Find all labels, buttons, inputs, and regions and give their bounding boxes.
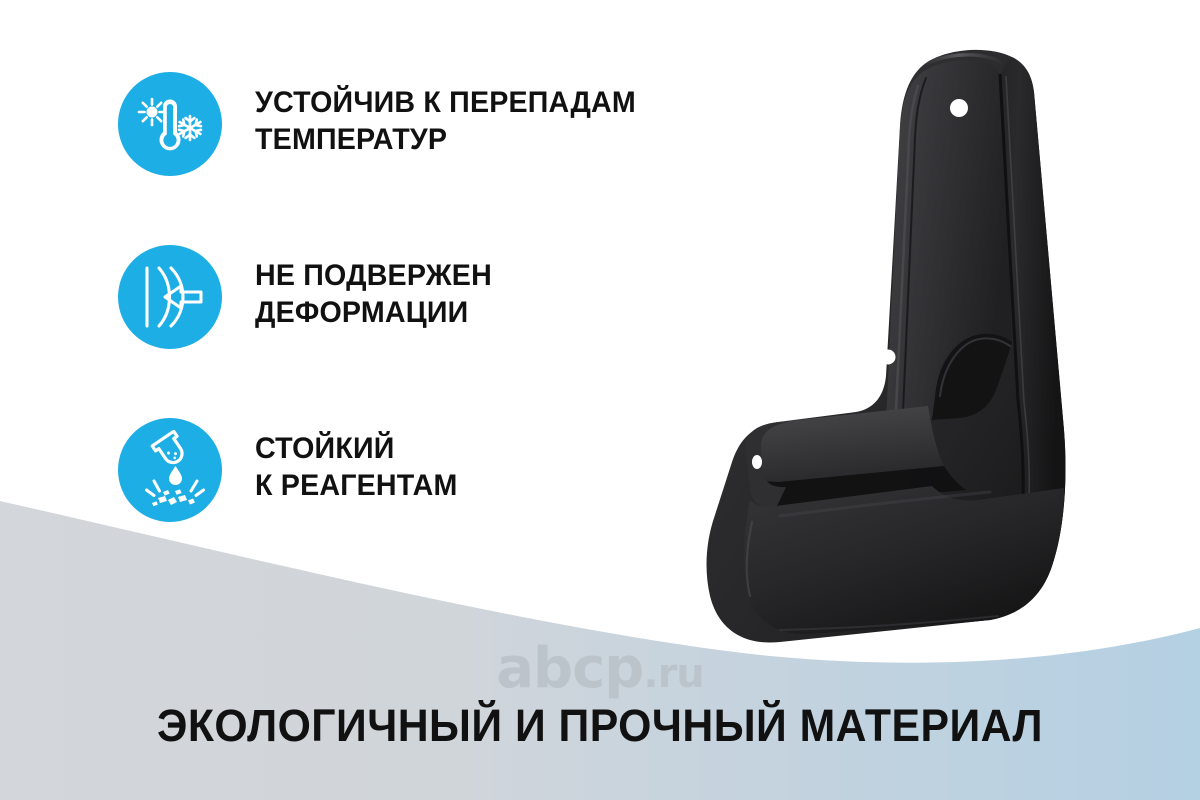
- feature-label: УСТОЙЧИВ К ПЕРЕПАДАМ ТЕМПЕРАТУР: [255, 72, 636, 159]
- watermark-text: abcp: [496, 636, 643, 701]
- mounting-hole: [752, 455, 762, 469]
- flexible-surface-arrow-icon: [118, 245, 222, 349]
- page-title: ЭКОЛОГИЧНЫЙ И ПРОЧНЫЙ МАТЕРИАЛ: [30, 700, 1170, 752]
- product-feature-banner: abcp.ru: [0, 0, 1200, 800]
- mounting-hole: [950, 99, 968, 117]
- feature-item-temperature: УСТОЙЧИВ К ПЕРЕПАДАМ ТЕМПЕРАТУР: [118, 72, 698, 176]
- mounting-hole: [881, 350, 896, 365]
- feature-label: СТОЙКИЙ К РЕАГЕНТАМ: [255, 418, 458, 505]
- thermometer-sun-snowflake-icon: [118, 72, 222, 176]
- mud-flap-photo: [660, 30, 1130, 650]
- flask-drop-splash-icon: [118, 418, 222, 522]
- feature-item-deformation: НЕ ПОДВЕРЖЕН ДЕФОРМАЦИИ: [118, 245, 698, 349]
- watermark-suffix: .ru: [643, 651, 703, 697]
- feature-label: НЕ ПОДВЕРЖЕН ДЕФОРМАЦИИ: [255, 245, 492, 332]
- feature-list: УСТОЙЧИВ К ПЕРЕПАДАМ ТЕМПЕРАТУР НЕ ПО: [118, 72, 698, 591]
- feature-item-reagents: СТОЙКИЙ К РЕАГЕНТАМ: [118, 418, 698, 522]
